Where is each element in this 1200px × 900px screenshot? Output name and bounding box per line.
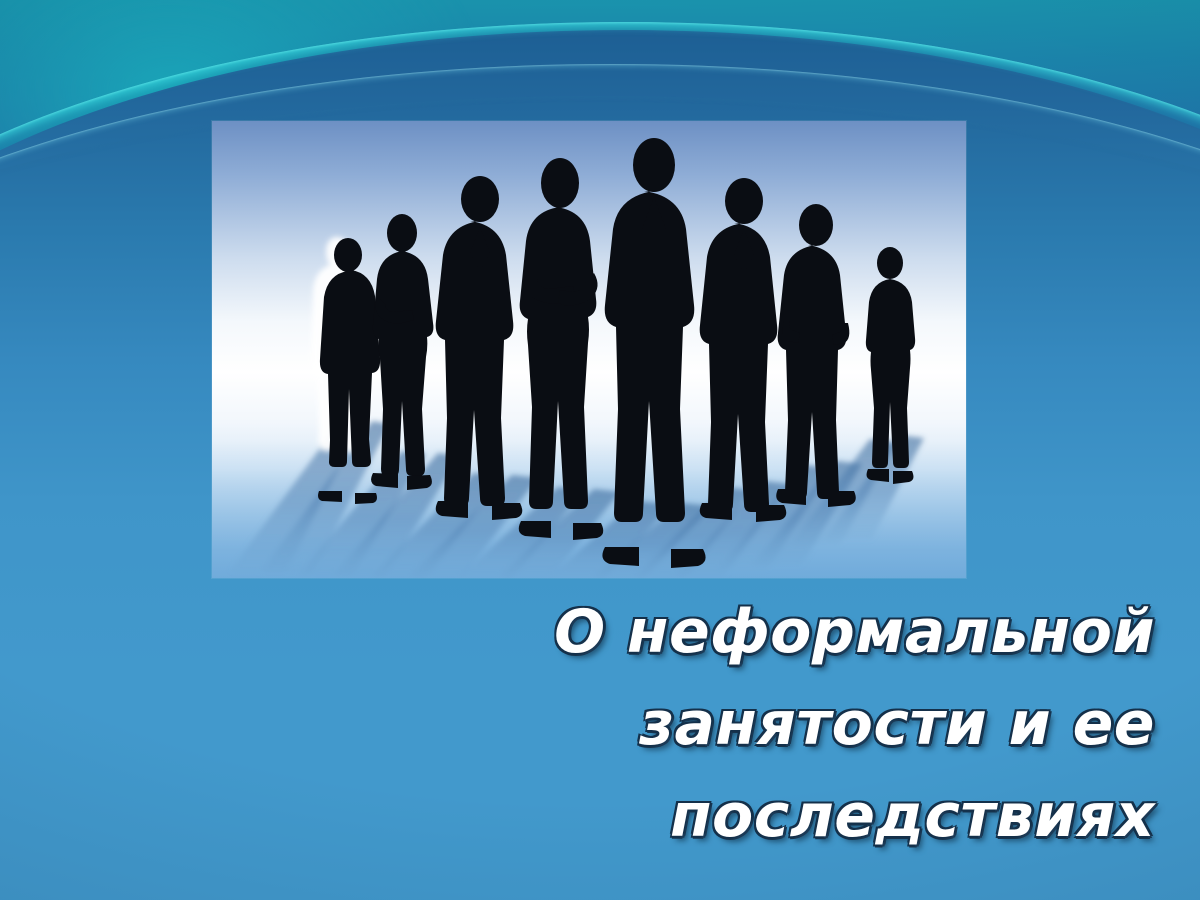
title-line-2: занятости и ее xyxy=(420,678,1155,770)
person-4 xyxy=(519,158,604,540)
person-3 xyxy=(436,176,523,520)
person-2 xyxy=(371,214,433,490)
title-line-3: последствиях xyxy=(420,770,1155,862)
person-7 xyxy=(776,204,856,507)
silhouette-figures-group xyxy=(212,121,966,578)
slide-title: О неформальной занятости и ее последстви… xyxy=(420,586,1155,862)
presentation-slide: О неформальной занятости и ее последстви… xyxy=(0,0,1200,900)
title-line-1: О неформальной xyxy=(420,586,1155,678)
person-6 xyxy=(700,178,787,522)
silhouette-picture xyxy=(212,121,966,578)
